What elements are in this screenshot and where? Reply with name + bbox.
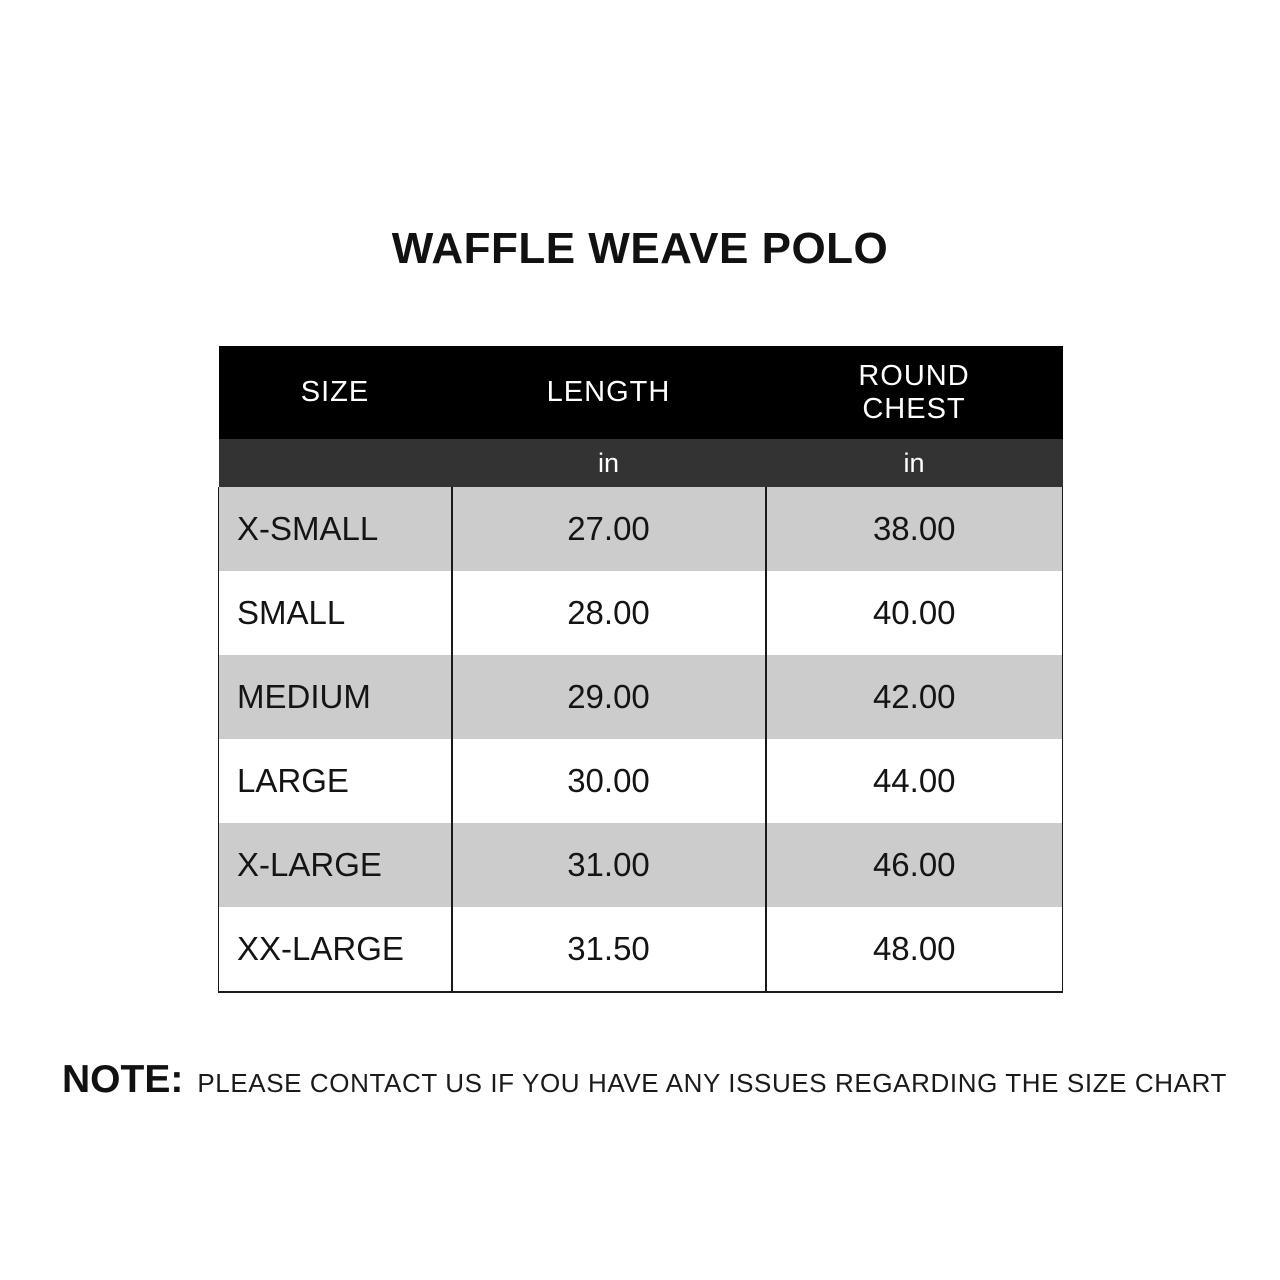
cell-round-chest: 48.00	[766, 907, 1063, 992]
table-row: XX-LARGE 31.50 48.00	[219, 907, 1063, 992]
column-header-round-chest: ROUND CHEST	[766, 346, 1063, 439]
cell-size: X-LARGE	[219, 823, 452, 907]
cell-round-chest: 38.00	[766, 487, 1063, 571]
column-header-round-chest-line2: CHEST	[862, 393, 965, 425]
cell-size: X-SMALL	[219, 487, 452, 571]
cell-round-chest: 44.00	[766, 739, 1063, 823]
unit-size	[219, 439, 452, 487]
cell-length: 30.00	[452, 739, 766, 823]
table-row: X-SMALL 27.00 38.00	[219, 487, 1063, 571]
header-row: SIZE LENGTH ROUND CHEST	[219, 346, 1063, 439]
table-row: X-LARGE 31.00 46.00	[219, 823, 1063, 907]
unit-round-chest: in	[766, 439, 1063, 487]
note-text: PLEASE CONTACT US IF YOU HAVE ANY ISSUES…	[197, 1068, 1227, 1099]
units-row: in in	[219, 439, 1063, 487]
table-header-group: SIZE LENGTH ROUND CHEST in in	[219, 346, 1063, 487]
column-header-round-chest-line1: ROUND	[858, 360, 969, 392]
cell-length: 28.00	[452, 571, 766, 655]
cell-size: LARGE	[219, 739, 452, 823]
cell-size: SMALL	[219, 571, 452, 655]
size-chart-page: WAFFLE WEAVE POLO SIZE LENGTH ROUND CHES…	[0, 0, 1280, 1280]
cell-length: 31.00	[452, 823, 766, 907]
cell-round-chest: 40.00	[766, 571, 1063, 655]
cell-size: XX-LARGE	[219, 907, 452, 992]
table-row: SMALL 28.00 40.00	[219, 571, 1063, 655]
table-body: X-SMALL 27.00 38.00 SMALL 28.00 40.00 ME…	[219, 487, 1063, 992]
note-label: NOTE:	[62, 1058, 183, 1102]
unit-length: in	[452, 439, 766, 487]
cell-length: 29.00	[452, 655, 766, 739]
cell-size: MEDIUM	[219, 655, 452, 739]
cell-length: 27.00	[452, 487, 766, 571]
cell-length: 31.50	[452, 907, 766, 992]
table-row: MEDIUM 29.00 42.00	[219, 655, 1063, 739]
size-chart-table: SIZE LENGTH ROUND CHEST in in X-SMALL 27…	[218, 346, 1063, 993]
table-row: LARGE 30.00 44.00	[219, 739, 1063, 823]
page-title: WAFFLE WEAVE POLO	[0, 225, 1280, 273]
cell-round-chest: 46.00	[766, 823, 1063, 907]
cell-round-chest: 42.00	[766, 655, 1063, 739]
column-header-size: SIZE	[219, 346, 452, 439]
note-block: NOTE: PLEASE CONTACT US IF YOU HAVE ANY …	[62, 1058, 1227, 1102]
column-header-length: LENGTH	[452, 346, 766, 439]
